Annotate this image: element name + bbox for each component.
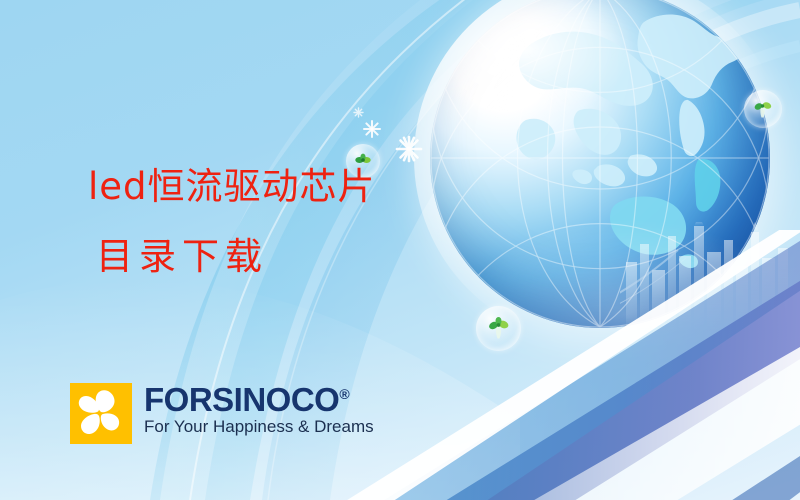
starburst-small-icon	[363, 120, 381, 143]
bubble-sprout-right	[744, 90, 782, 128]
forsinoco-pinwheel-mark-icon	[70, 383, 132, 444]
registered-trademark-symbol: ®	[339, 386, 349, 402]
logo-tagline: For Your Happiness & Dreams	[144, 418, 374, 437]
headline-line-2: 目录下载	[96, 238, 268, 275]
promo-banner: led恒流驱动芯片 目录下载 FORSINOCO® For Your Happi…	[0, 0, 800, 500]
starburst-large-icon	[395, 135, 423, 168]
diagonal-swoosh-ribbons	[280, 230, 800, 500]
starburst-tiny-icon	[353, 105, 364, 123]
bubble-sprout-bottom	[476, 306, 521, 351]
green-sprout-icon	[485, 315, 512, 342]
green-sprout-icon	[752, 98, 775, 121]
logo-text-block: FORSINOCO® For Your Happiness & Dreams	[144, 383, 374, 436]
forsinoco-logo[interactable]: FORSINOCO® For Your Happiness & Dreams	[70, 383, 374, 444]
headline-line-1: led恒流驱动芯片	[88, 168, 376, 205]
logo-wordmark: FORSINOCO®	[144, 383, 374, 417]
